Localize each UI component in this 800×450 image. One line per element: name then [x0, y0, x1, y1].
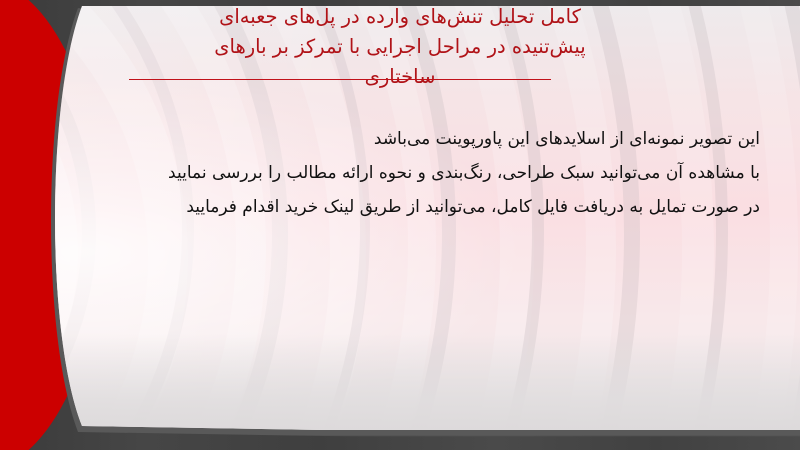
body-line-1: این تصویر نمونه‌ای از اسلایدهای این پاور… — [140, 122, 760, 156]
title-underline-rule — [129, 79, 551, 80]
body-line-2: با مشاهده آن می‌توانید سبک طراحی، رنگ‌بن… — [140, 156, 760, 190]
slide-body: این تصویر نمونه‌ای از اسلایدهای این پاور… — [140, 122, 760, 224]
presentation-slide: کامل تحلیل تنش‌های وارده در پل‌های جعبه‌… — [0, 0, 800, 450]
body-line-3: در صورت تمایل به دریافت فایل کامل، می‌تو… — [140, 190, 760, 224]
